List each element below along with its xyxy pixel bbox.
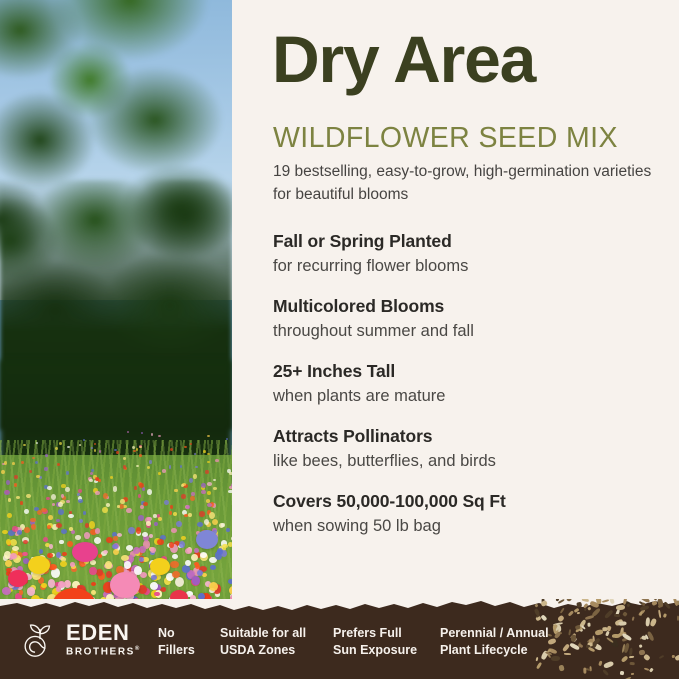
logo-eden-text: EDEN [66, 622, 141, 644]
feature-list: Fall or Spring Plantedfor recurring flow… [273, 230, 673, 555]
feature-item: Multicolored Bloomsthroughout summer and… [273, 295, 673, 342]
feature-subtitle: throughout summer and fall [273, 320, 673, 342]
feature-title: Attracts Pollinators [273, 425, 673, 448]
eden-brothers-logo[interactable]: EDEN BROTHERS® [22, 621, 141, 659]
content-panel: Dry Area WILDFLOWER SEED MIX 19 bestsell… [232, 0, 679, 620]
feature-title: 25+ Inches Tall [273, 360, 673, 383]
feature-title: Covers 50,000-100,000 Sq Ft [273, 490, 673, 513]
product-title: Dry Area [272, 26, 535, 92]
torn-paper-edge-icon [0, 599, 679, 616]
feature-item: Fall or Spring Plantedfor recurring flow… [273, 230, 673, 277]
feature-title: Multicolored Blooms [273, 295, 673, 318]
wildflower-meadow-photo [0, 0, 232, 620]
feature-item: Covers 50,000-100,000 Sq Ftwhen sowing 5… [273, 490, 673, 537]
feature-subtitle: when plants are mature [273, 385, 673, 407]
logo-brothers-text: BROTHERS® [66, 646, 141, 657]
feature-subtitle: like bees, butterflies, and birds [273, 450, 673, 472]
feature-badge: Suitable for all USDA Zones [220, 625, 333, 659]
feature-badge: Perennial / Annual Plant Lifecycle [440, 625, 570, 659]
product-infographic: Dry Area WILDFLOWER SEED MIX 19 bestsell… [0, 0, 679, 679]
wildflower-blooms [0, 430, 232, 620]
feature-badge: No Fillers [158, 625, 220, 659]
product-lead-description: 19 bestselling, easy-to-grow, high-germi… [273, 160, 663, 207]
feature-subtitle: for recurring flower blooms [273, 255, 673, 277]
feature-item: Attracts Pollinatorslike bees, butterfli… [273, 425, 673, 472]
feature-item: 25+ Inches Tallwhen plants are mature [273, 360, 673, 407]
logo-wordmark: EDEN BROTHERS® [66, 622, 141, 657]
sprout-seed-logo-icon [22, 621, 58, 659]
feature-badge-row: No FillersSuitable for all USDA ZonesPre… [158, 625, 570, 659]
footer-bar: EDEN BROTHERS® No FillersSuitable for al… [0, 599, 679, 679]
feature-badge: Prefers Full Sun Exposure [333, 625, 440, 659]
feature-subtitle: when sowing 50 lb bag [273, 515, 673, 537]
feature-title: Fall or Spring Planted [273, 230, 673, 253]
product-subtitle: WILDFLOWER SEED MIX [273, 124, 618, 153]
